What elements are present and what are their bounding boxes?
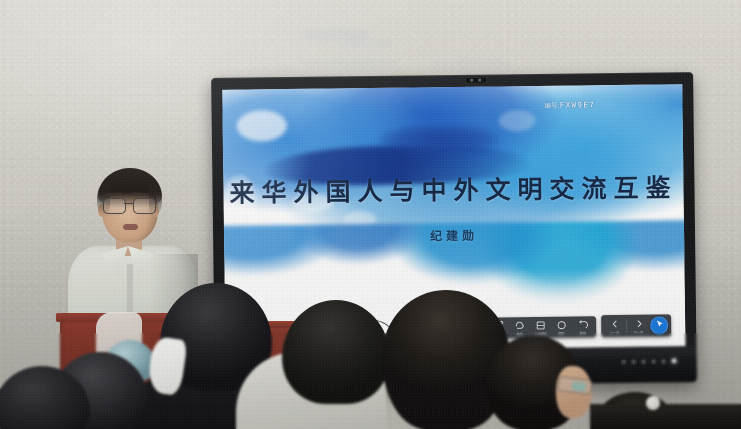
audience-hand [646, 396, 660, 410]
shape-icon [535, 319, 546, 330]
undo-icon [577, 319, 588, 330]
glasses-lens [572, 381, 587, 392]
toolbar-nav-group[interactable]: 上一页 下一页 [601, 314, 671, 337]
glasses-bridge [124, 203, 133, 204]
slide-title: 来华外国人与中外文明交流互鉴 [223, 168, 683, 210]
toolbar-next-page-label: 下一页 [634, 330, 644, 334]
ir-sensor-icon [465, 77, 487, 84]
toolbar-shape-button[interactable]: 几何图形 [530, 318, 551, 335]
display-hardware-buttons[interactable] [622, 358, 677, 364]
toolbar-divider [626, 319, 627, 332]
toolbar-circle-button[interactable]: 圆形 [551, 318, 572, 335]
glasses-lens [133, 198, 156, 214]
hw-button[interactable] [642, 359, 646, 363]
toolbar-undo-label: 撤销 [580, 331, 586, 335]
audience-row-shadow [590, 404, 741, 429]
toolbar-pointer-button[interactable] [650, 316, 668, 334]
toolbar-shape-label: 几何图形 [534, 331, 547, 335]
hw-button[interactable] [652, 359, 656, 363]
ink-streak [379, 123, 499, 156]
slide-code-value: FXW9E7 [560, 100, 596, 109]
eraser-icon [514, 320, 525, 331]
hw-button[interactable] [622, 359, 626, 363]
presenter-mouth [123, 224, 138, 230]
toolbar-circle-label: 圆形 [559, 331, 565, 335]
glasses-lens [103, 198, 126, 214]
toolbar-next-page-button[interactable]: 下一页 [628, 317, 649, 334]
toolbar-eraser-label: 橡皮 [517, 332, 523, 336]
toolbar-undo-button[interactable]: 撤销 [572, 318, 593, 335]
hw-button[interactable] [632, 359, 636, 363]
toolbar-prev-page-button[interactable]: 上一页 [604, 317, 625, 334]
hw-button[interactable] [662, 359, 666, 363]
circle-icon [556, 319, 567, 330]
pointer-icon [654, 316, 665, 334]
lecture-photo-scene: 编号:FXW9E7 来华外国人与中外文明交流互鉴 纪建勋 画笔 [0, 0, 741, 429]
next-page-icon [633, 318, 644, 329]
power-led-icon [672, 358, 677, 363]
prev-page-icon [609, 318, 620, 329]
toolbar-eraser-button[interactable]: 橡皮 [509, 319, 530, 336]
toolbar-prev-page-label: 上一页 [610, 331, 620, 335]
paper-highlight [499, 110, 536, 131]
glasses-icon [102, 198, 158, 213]
slide-code: 编号:FXW9E7 [544, 99, 595, 110]
slide-code-prefix: 编号: [544, 102, 559, 110]
